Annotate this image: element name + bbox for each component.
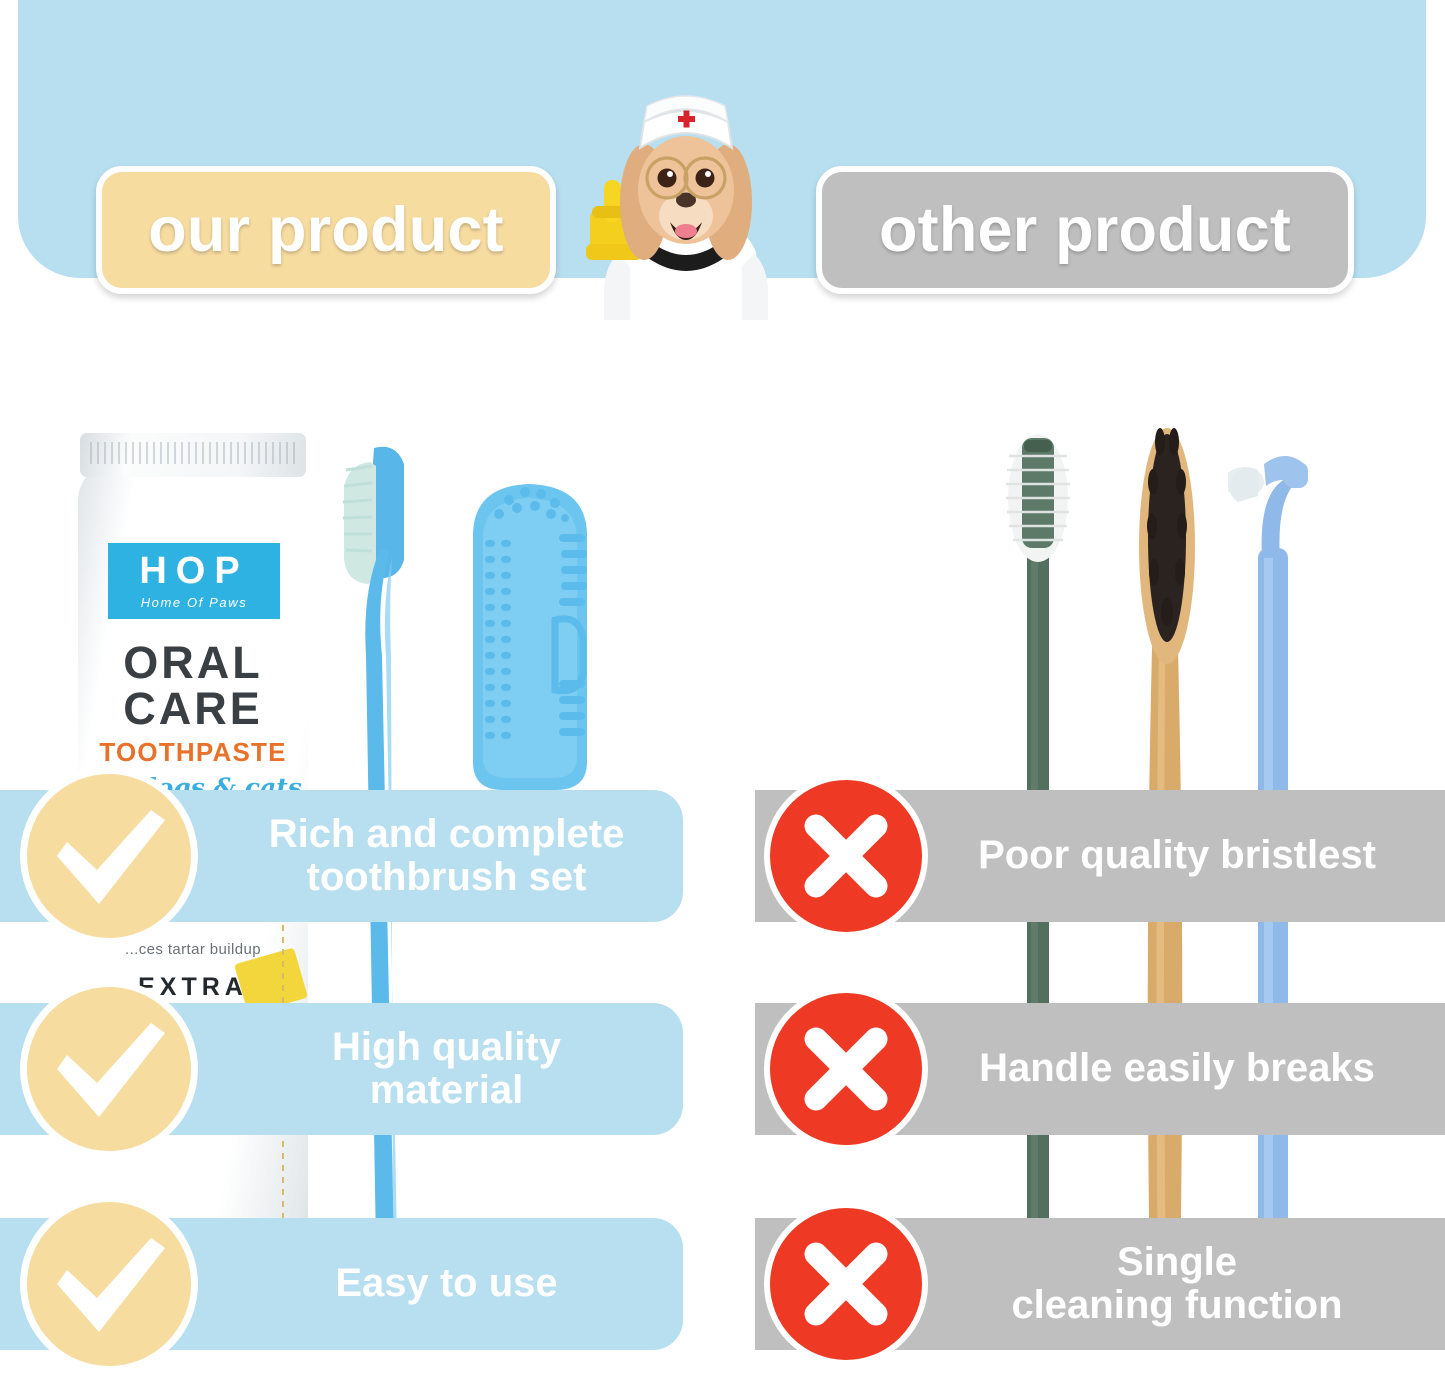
check-icon (20, 767, 198, 945)
oral-care-line1: ORAL (78, 637, 308, 689)
hop-brand-band: HOP Home Of Paws (108, 543, 280, 619)
feature-row: High quality material Handle easily brea… (0, 1003, 1445, 1135)
other-product-label: other product (816, 166, 1354, 294)
cross-icon (764, 1202, 928, 1366)
cross-icon (764, 774, 928, 938)
check-icon (20, 980, 198, 1158)
oral-care-line2: CARE (78, 683, 308, 735)
hop-brand-name: HOP (139, 552, 248, 590)
feature-row: Rich and complete toothbrush set Poor qu… (0, 790, 1445, 922)
cross-icon (764, 987, 928, 1151)
feature-row: Easy to use Single cleaning function (0, 1218, 1445, 1350)
silicone-finger-brush-image (455, 470, 605, 790)
our-product-label: our product (96, 166, 556, 294)
toothpaste-word: TOOTHPASTE (78, 737, 308, 768)
nurse-dog-mascot-icon (566, 82, 806, 320)
check-icon (20, 1195, 198, 1373)
hop-tagline: Home Of Paws (141, 595, 248, 610)
